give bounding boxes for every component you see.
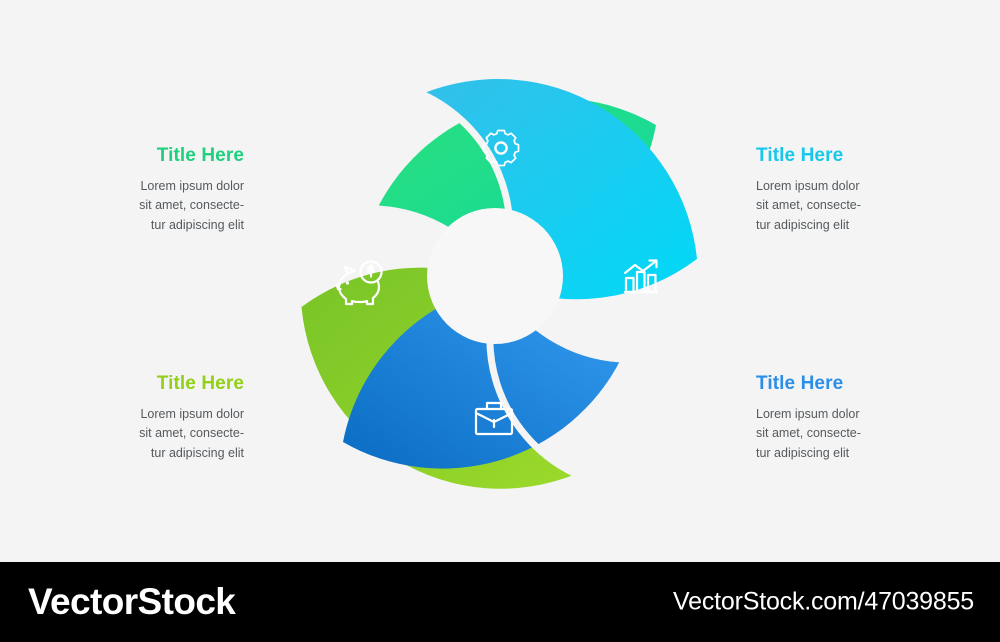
artboard: Title Here Lorem ipsum dolor sit amet, c… (0, 0, 1000, 562)
desc-line-1: Lorem ipsum dolor (140, 179, 244, 193)
pinwheel-diagram (280, 64, 720, 504)
label-bottom-right-description: Lorem ipsum dolor sit amet, consecte- tu… (756, 405, 956, 463)
label-bottom-left-description: Lorem ipsum dolor sit amet, consecte- tu… (44, 405, 244, 463)
desc-line-2: sit amet, consecte- (756, 426, 861, 440)
desc-line-2: sit amet, consecte- (139, 198, 244, 212)
desc-line-3: tur adipiscing elit (756, 446, 849, 460)
vectorstock-logo: VectorStock (28, 581, 235, 623)
label-bottom-right-title: Title Here (756, 374, 956, 395)
screenshot-root: Title Here Lorem ipsum dolor sit amet, c… (0, 0, 1000, 642)
desc-line-1: Lorem ipsum dolor (756, 407, 860, 421)
watermark-footer: VectorStock VectorStock.com/47039855 (0, 562, 1000, 642)
label-top-right: Title Here Lorem ipsum dolor sit amet, c… (756, 146, 956, 235)
center-hole (427, 208, 563, 344)
vectorstock-url: VectorStock.com/47039855 (673, 588, 974, 617)
desc-line-3: tur adipiscing elit (151, 218, 244, 232)
desc-line-1: Lorem ipsum dolor (756, 179, 860, 193)
desc-line-2: sit amet, consecte- (756, 198, 861, 212)
desc-line-3: tur adipiscing elit (151, 446, 244, 460)
label-top-left-description: Lorem ipsum dolor sit amet, consecte- tu… (44, 177, 244, 235)
label-bottom-left-title: Title Here (44, 374, 244, 395)
desc-line-1: Lorem ipsum dolor (140, 407, 244, 421)
desc-line-3: tur adipiscing elit (756, 218, 849, 232)
label-top-right-title: Title Here (756, 146, 956, 167)
label-top-left: Title Here Lorem ipsum dolor sit amet, c… (44, 146, 244, 235)
label-bottom-right: Title Here Lorem ipsum dolor sit amet, c… (756, 374, 956, 463)
desc-line-2: sit amet, consecte- (139, 426, 244, 440)
label-bottom-left: Title Here Lorem ipsum dolor sit amet, c… (44, 374, 244, 463)
label-top-left-title: Title Here (44, 146, 244, 167)
label-top-right-description: Lorem ipsum dolor sit amet, consecte- tu… (756, 177, 956, 235)
